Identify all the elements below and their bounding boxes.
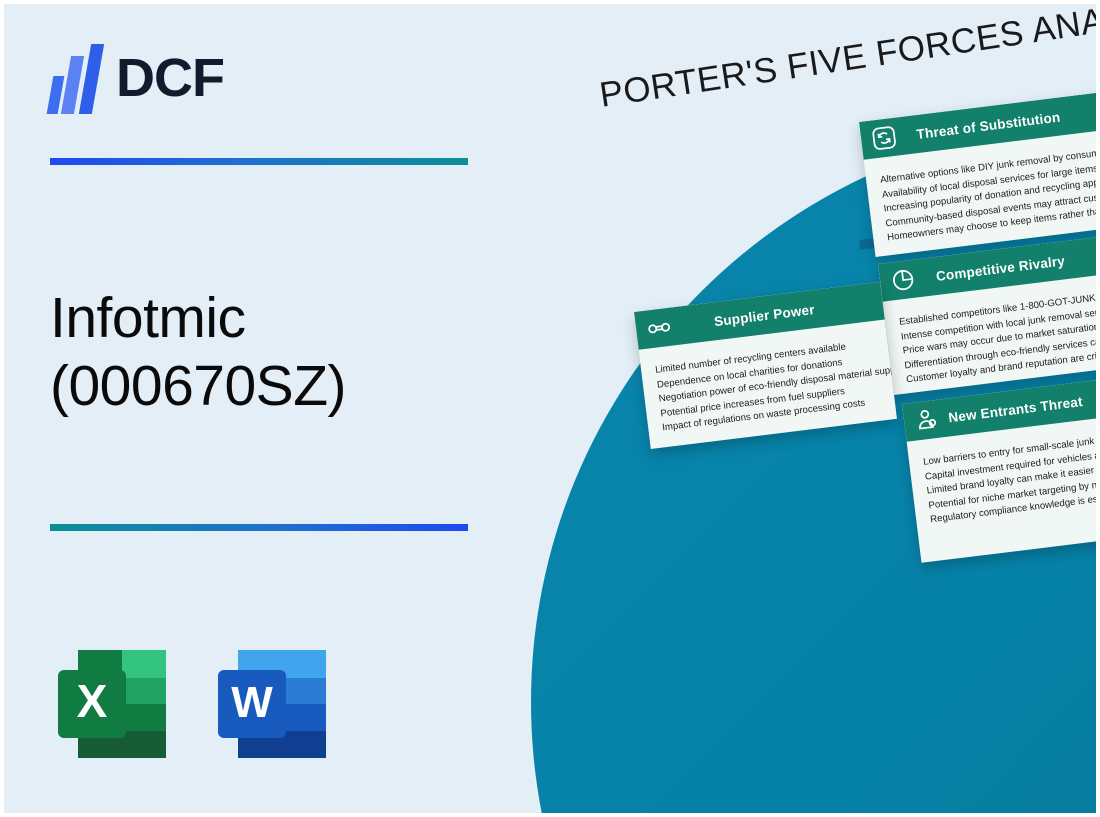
user-person-icon [913, 406, 942, 435]
svg-text:X: X [77, 675, 108, 727]
card-new-entrants-threat[interactable]: New Entrants Threat Low barriers to entr… [902, 378, 1096, 563]
handshake-link-icon [645, 314, 674, 343]
word-icon[interactable]: W [208, 640, 336, 768]
company-ticker: (000670SZ) [50, 352, 510, 420]
download-icons: X W [48, 640, 348, 768]
company-name: Infotmic [50, 284, 510, 352]
page-headline: PORTER'S FIVE FORCES ANALYSIS [597, 4, 1096, 116]
logo-wordmark: DCF [116, 46, 224, 110]
refresh-sync-icon [870, 124, 899, 153]
card-competitive-rivalry[interactable]: Competitive Rivalry Established competit… [878, 236, 1096, 395]
card-threat-of-substitution[interactable]: Threat of Substitution Alternative optio… [859, 92, 1096, 257]
svg-text:W: W [231, 678, 273, 727]
dcf-logo[interactable]: DCF [48, 40, 308, 118]
pie-chart-icon [889, 266, 918, 295]
page-title: Infotmic (000670SZ) [50, 284, 510, 420]
excel-icon[interactable]: X [48, 640, 176, 768]
divider-bottom [50, 524, 468, 531]
left-info-panel: DCF Infotmic (000670SZ) X [4, 4, 524, 813]
divider-top [50, 158, 468, 165]
infographic-page: PORTER'S FIVE FORCES ANALYSIS Threat of … [4, 4, 1096, 813]
bar-chart-mark-icon [48, 44, 106, 114]
